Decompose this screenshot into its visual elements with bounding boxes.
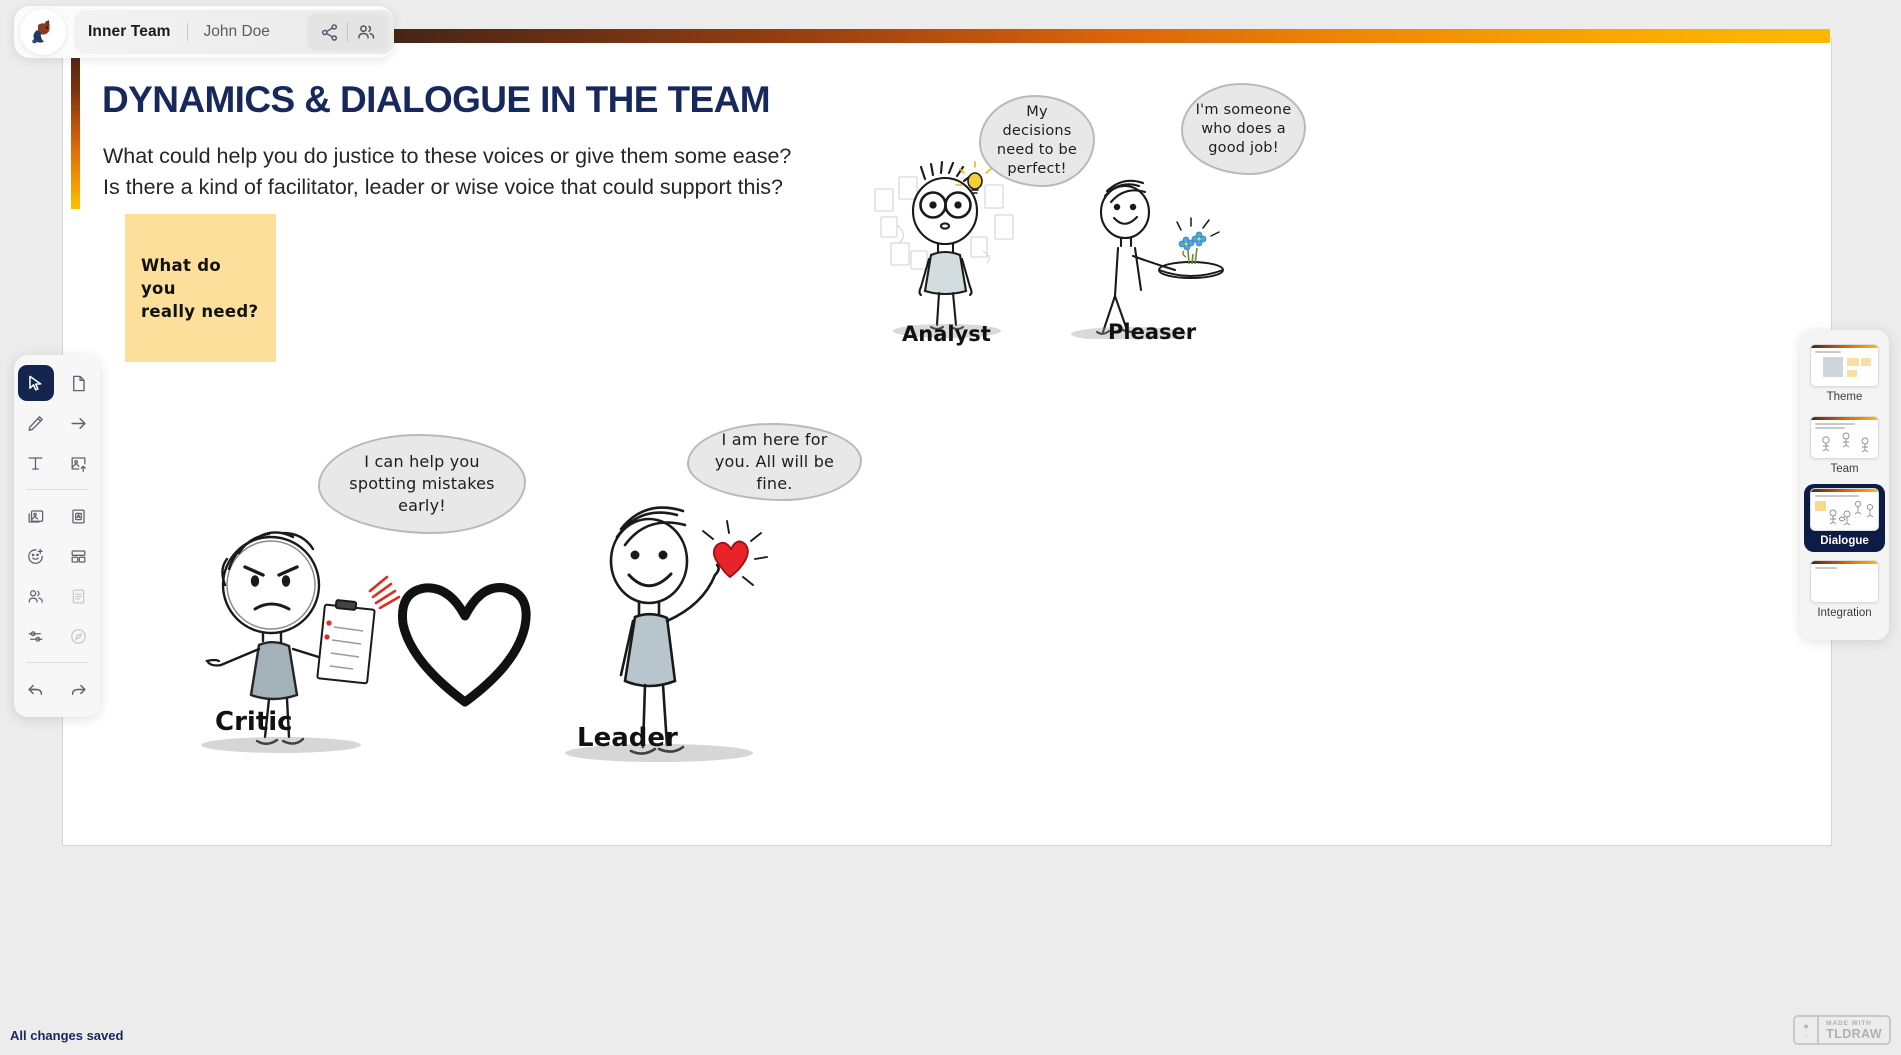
toolbar-row-1 xyxy=(14,363,100,403)
toolbar-divider-2 xyxy=(26,662,88,663)
page-item-integration[interactable]: Integration xyxy=(1804,556,1885,624)
slide-canvas[interactable]: DYNAMICS & DIALOGUE IN THE TEAM What cou… xyxy=(62,38,1832,846)
flowers-icon xyxy=(1177,218,1219,264)
page-item-team[interactable]: Team xyxy=(1804,412,1885,480)
left-accent-bar xyxy=(71,39,80,209)
sticky-note-text: What do you really need? xyxy=(141,254,260,323)
thumb-accent-strip xyxy=(1811,489,1878,492)
toolbar-row-3 xyxy=(14,443,100,483)
toolbar-row-5 xyxy=(14,536,100,576)
layout-tool[interactable] xyxy=(61,538,97,574)
draw-tool[interactable] xyxy=(18,405,54,441)
layout-grid-icon xyxy=(69,547,88,566)
settings-tool[interactable] xyxy=(18,618,54,654)
page-subtitle: What could help you do justice to these … xyxy=(103,141,791,203)
page-thumbnail xyxy=(1810,560,1879,603)
tldraw-watermark[interactable]: ●, MADE WITH TLDRAW xyxy=(1793,1015,1891,1045)
header-gradient-strip xyxy=(325,29,1830,43)
thumb-accent-strip xyxy=(1811,561,1878,564)
figure-label-leader: Leader xyxy=(577,723,678,753)
thumb-figures-icon xyxy=(1827,497,1877,527)
sticky-line-1: What do you xyxy=(141,254,260,300)
app-logo[interactable] xyxy=(20,9,66,55)
thumb-line xyxy=(1815,427,1845,429)
heart-icon xyxy=(703,521,767,585)
compass-icon xyxy=(69,627,88,646)
thumb-accent-strip xyxy=(1811,345,1878,348)
share-button[interactable] xyxy=(311,14,347,50)
fox-logo-icon xyxy=(28,17,58,47)
subtitle-line-1: What could help you do justice to these … xyxy=(103,141,791,172)
redo-button[interactable] xyxy=(61,671,97,707)
members-button[interactable] xyxy=(348,14,384,50)
figure-label-analyst: Analyst xyxy=(902,322,991,346)
top-bar-pill: Inner Team John Doe xyxy=(74,10,394,54)
save-status-label: All changes saved xyxy=(10,1028,123,1043)
page-label: Team xyxy=(1804,463,1885,475)
page-thumbnail xyxy=(1810,488,1879,531)
compass-tool[interactable] xyxy=(61,618,97,654)
page-label: Integration xyxy=(1804,607,1885,619)
thumb-sticky-block xyxy=(1815,501,1826,511)
lightbulb-icon xyxy=(956,162,991,193)
people-icon xyxy=(356,22,376,42)
speech-bubble-pleaser[interactable]: I'm someone who does a good job! xyxy=(1181,83,1306,175)
toolbar-row-2 xyxy=(14,403,100,443)
page-thumbnail xyxy=(1810,416,1879,459)
share-icon xyxy=(320,23,339,42)
undo-arrow-icon xyxy=(26,680,45,699)
text-t-icon xyxy=(26,454,45,473)
thumb-note-block xyxy=(1847,370,1857,377)
page-icon xyxy=(69,374,88,393)
user-name-label[interactable]: John Doe xyxy=(204,23,270,41)
tldraw-dots-icon: ●, xyxy=(1795,1017,1819,1043)
thumb-note-block xyxy=(1861,358,1871,366)
figure-label-critic: Critic xyxy=(215,707,293,737)
card-tool[interactable] xyxy=(61,498,97,534)
toolbar-row-7 xyxy=(14,616,100,656)
figure-label-pleaser: Pleaser xyxy=(1108,320,1196,344)
page-title: DYNAMICS & DIALOGUE IN THE TEAM xyxy=(102,79,770,121)
tray-icon xyxy=(1159,262,1223,278)
toolbar-divider xyxy=(26,489,88,490)
sticky-note[interactable]: What do you really need? xyxy=(125,214,276,362)
thumb-image-block xyxy=(1823,357,1843,377)
redo-arrow-icon xyxy=(69,680,88,699)
image-upload-icon xyxy=(69,454,88,473)
figure-analyst[interactable] xyxy=(863,159,1043,339)
page-label: Dialogue xyxy=(1804,535,1885,547)
sticky-line-2: really need? xyxy=(141,300,260,323)
people-tool[interactable] xyxy=(18,578,54,614)
subtitle-line-2: Is there a kind of facilitator, leader o… xyxy=(103,172,791,203)
thumb-line xyxy=(1815,423,1855,425)
sliders-icon xyxy=(26,627,45,646)
undo-button[interactable] xyxy=(18,671,54,707)
framed-letter-icon xyxy=(69,507,88,526)
smiley-plus-icon xyxy=(26,547,45,566)
figure-pleaser[interactable] xyxy=(1063,164,1233,339)
page-item-dialogue[interactable]: Dialogue xyxy=(1804,484,1885,552)
thumb-accent-strip xyxy=(1811,417,1878,420)
watermark-big-text: TLDRAW xyxy=(1826,1028,1882,1040)
thumb-line xyxy=(1815,351,1841,353)
page-item-theme[interactable]: Theme xyxy=(1804,340,1885,408)
page-thumbnail xyxy=(1810,344,1879,387)
left-toolbar xyxy=(14,355,100,717)
text-tool[interactable] xyxy=(18,445,54,481)
pages-panel: Theme Team xyxy=(1800,330,1889,640)
toolbar-row-6 xyxy=(14,576,100,616)
toolbar-row-4 xyxy=(14,496,100,536)
page-label: Theme xyxy=(1804,391,1885,403)
arrow-tool[interactable] xyxy=(61,405,97,441)
top-bar: Inner Team John Doe xyxy=(14,6,394,58)
people-icon xyxy=(26,587,45,606)
thumb-note-block xyxy=(1847,358,1859,366)
arrow-right-icon xyxy=(69,414,88,433)
media-library-tool[interactable] xyxy=(18,498,54,534)
thumb-line xyxy=(1815,567,1837,569)
toolbar-row-history xyxy=(14,669,100,709)
tldraw-text: MADE WITH TLDRAW xyxy=(1819,1020,1889,1040)
figure-critic[interactable] xyxy=(173,509,423,769)
image-upload-tool[interactable] xyxy=(61,445,97,481)
workspace-title[interactable]: Inner Team xyxy=(88,23,171,41)
thumb-figures-icon xyxy=(1817,431,1875,455)
cursor-arrow-icon xyxy=(26,374,45,393)
image-stack-icon xyxy=(26,507,45,526)
emoji-tool[interactable] xyxy=(18,538,54,574)
select-tool[interactable] xyxy=(18,365,54,401)
tldraw-canvas-app: Inner Team John Doe xyxy=(0,0,1901,1055)
topbar-action-group xyxy=(307,13,388,51)
notes-tool[interactable] xyxy=(61,578,97,614)
topbar-divider xyxy=(187,23,188,41)
note-lines-icon xyxy=(69,587,88,606)
pencil-icon xyxy=(26,414,45,433)
hand-drawn-heart-icon[interactable] xyxy=(393,574,538,709)
page-tool[interactable] xyxy=(61,365,97,401)
